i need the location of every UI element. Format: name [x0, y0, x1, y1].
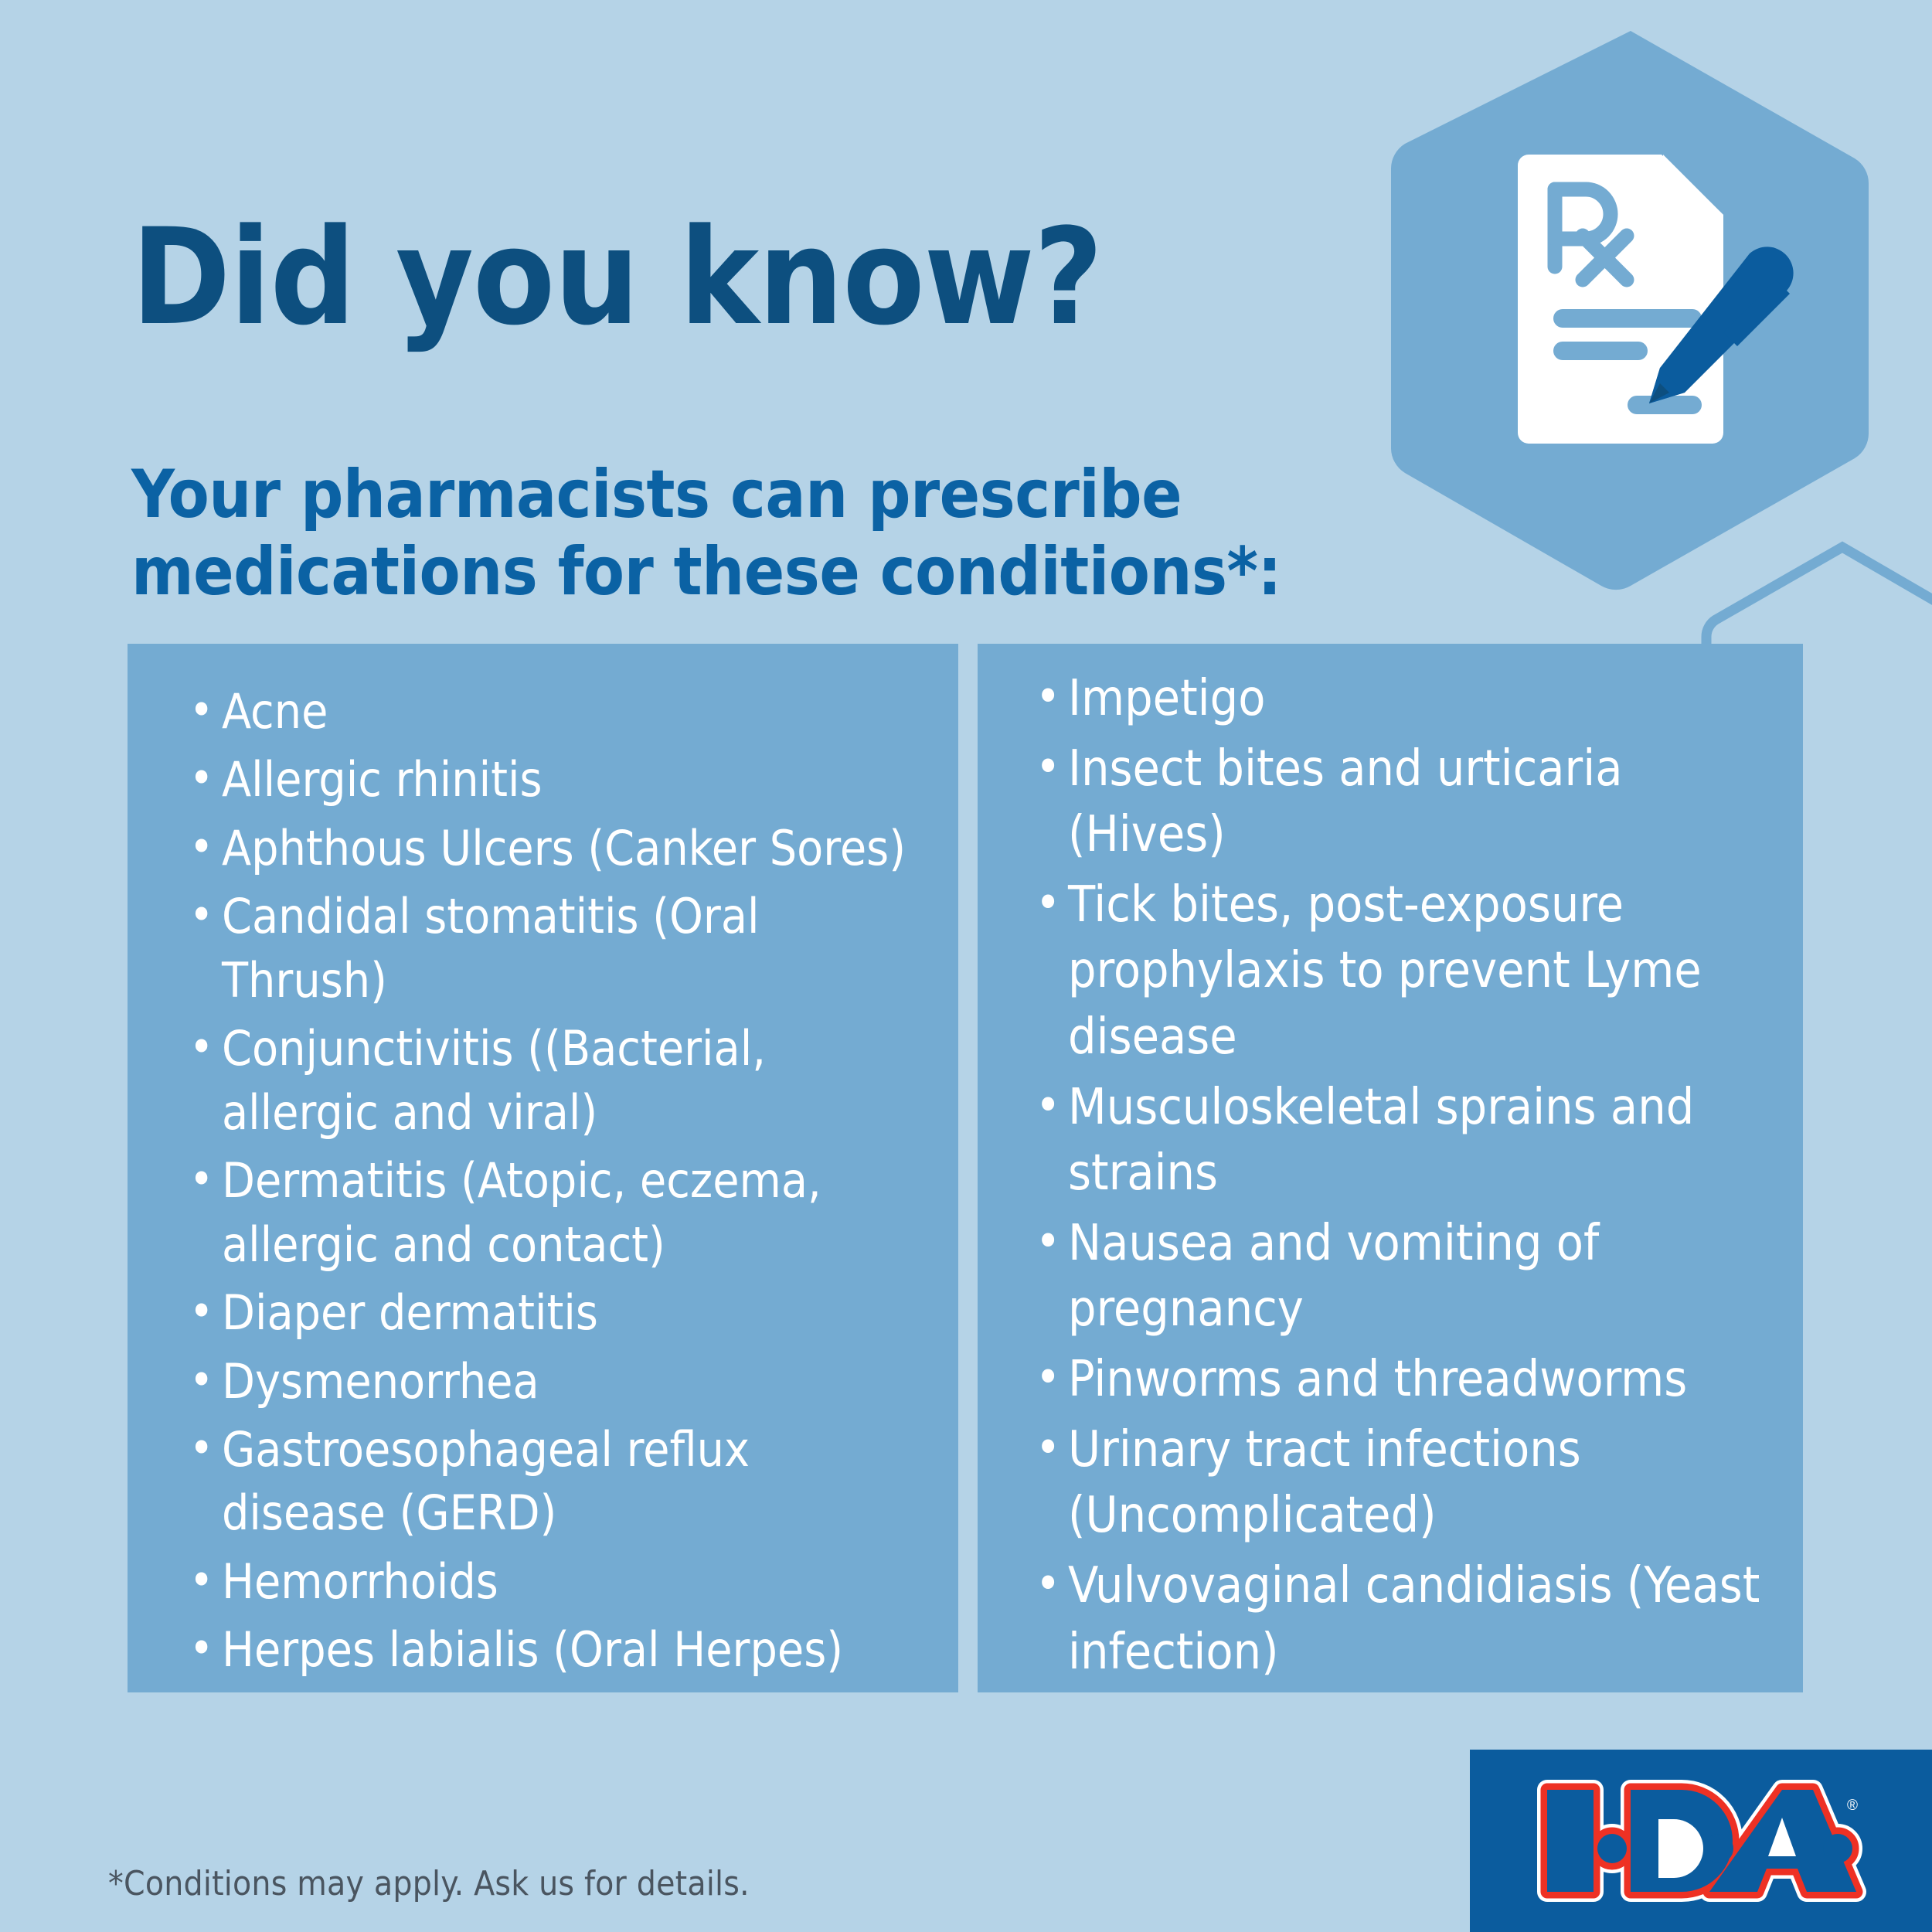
- condition-right-item: Impetigo: [1036, 666, 1777, 732]
- condition-left-item: Conjunctivitis ((Bacterial, allergic and…: [189, 1017, 916, 1145]
- ida-logo-text: I·D·A: [1470, 1750, 1471, 1750]
- registered-trademark-icon: ®: [1847, 1798, 1858, 1814]
- condition-left-item: Diaper dermatitis: [189, 1281, 916, 1345]
- ida-logo-panel: I·D·A: [1470, 1750, 1932, 1932]
- condition-left-item: Hemorrhoids: [189, 1550, 916, 1614]
- condition-right-item: Pinworms and threadworms: [1036, 1347, 1777, 1413]
- subtitle-line-2: medications for these conditions*:: [131, 534, 1291, 611]
- condition-left-item: Candidal stomatitis (Oral Thrush): [189, 885, 916, 1012]
- condition-left-item: Herpes labialis (Oral Herpes): [189, 1618, 916, 1682]
- condition-left-item: Dysmenorrhea: [189, 1350, 916, 1413]
- condition-left-item: Allergic rhinitis: [189, 748, 916, 811]
- conditions-list-right: ImpetigoInsect bites and urticaria (Hive…: [1036, 666, 1777, 1690]
- conditions-list-left: AcneAllergic rhinitisAphthous Ulcers (Ca…: [189, 680, 916, 1687]
- condition-right-item: Musculoskeletal sprains and strains: [1036, 1075, 1777, 1206]
- condition-right-item: Nausea and vomiting of pregnancy: [1036, 1211, 1777, 1342]
- condition-left-item: Gastroesophageal reflux disease (GERD): [189, 1418, 916, 1546]
- condition-right-item: Insect bites and urticaria (Hives): [1036, 736, 1777, 868]
- prescription-document-icon: [1518, 155, 1723, 444]
- condition-left-item: Acne: [189, 680, 916, 743]
- condition-left-item: Aphthous Ulcers (Canker Sores): [189, 817, 916, 880]
- page-subtitle: Your pharmacists can prescribe medicatio…: [131, 457, 1291, 611]
- ida-logo-mark: ®: [1535, 1779, 1867, 1903]
- page-title: Did you know?: [131, 211, 1102, 344]
- condition-right-item: Vulvovaginal candidiasis (Yeast infectio…: [1036, 1553, 1777, 1685]
- prescription-hexagon-badge: [1391, 31, 1869, 590]
- poster-canvas: Did you know? Your pharmacists can presc…: [0, 0, 1932, 1932]
- condition-right-item: Urinary tract infections (Uncomplicated): [1036, 1417, 1777, 1549]
- subtitle-line-1: Your pharmacists can prescribe: [131, 457, 1291, 534]
- pen-icon: [1649, 247, 1794, 403]
- condition-right-item: Tick bites, post-exposure prophylaxis to…: [1036, 872, 1777, 1070]
- footnote-text: *Conditions may apply. Ask us for detail…: [108, 1864, 750, 1903]
- condition-left-item: Dermatitis (Atopic, eczema, allergic and…: [189, 1149, 916, 1277]
